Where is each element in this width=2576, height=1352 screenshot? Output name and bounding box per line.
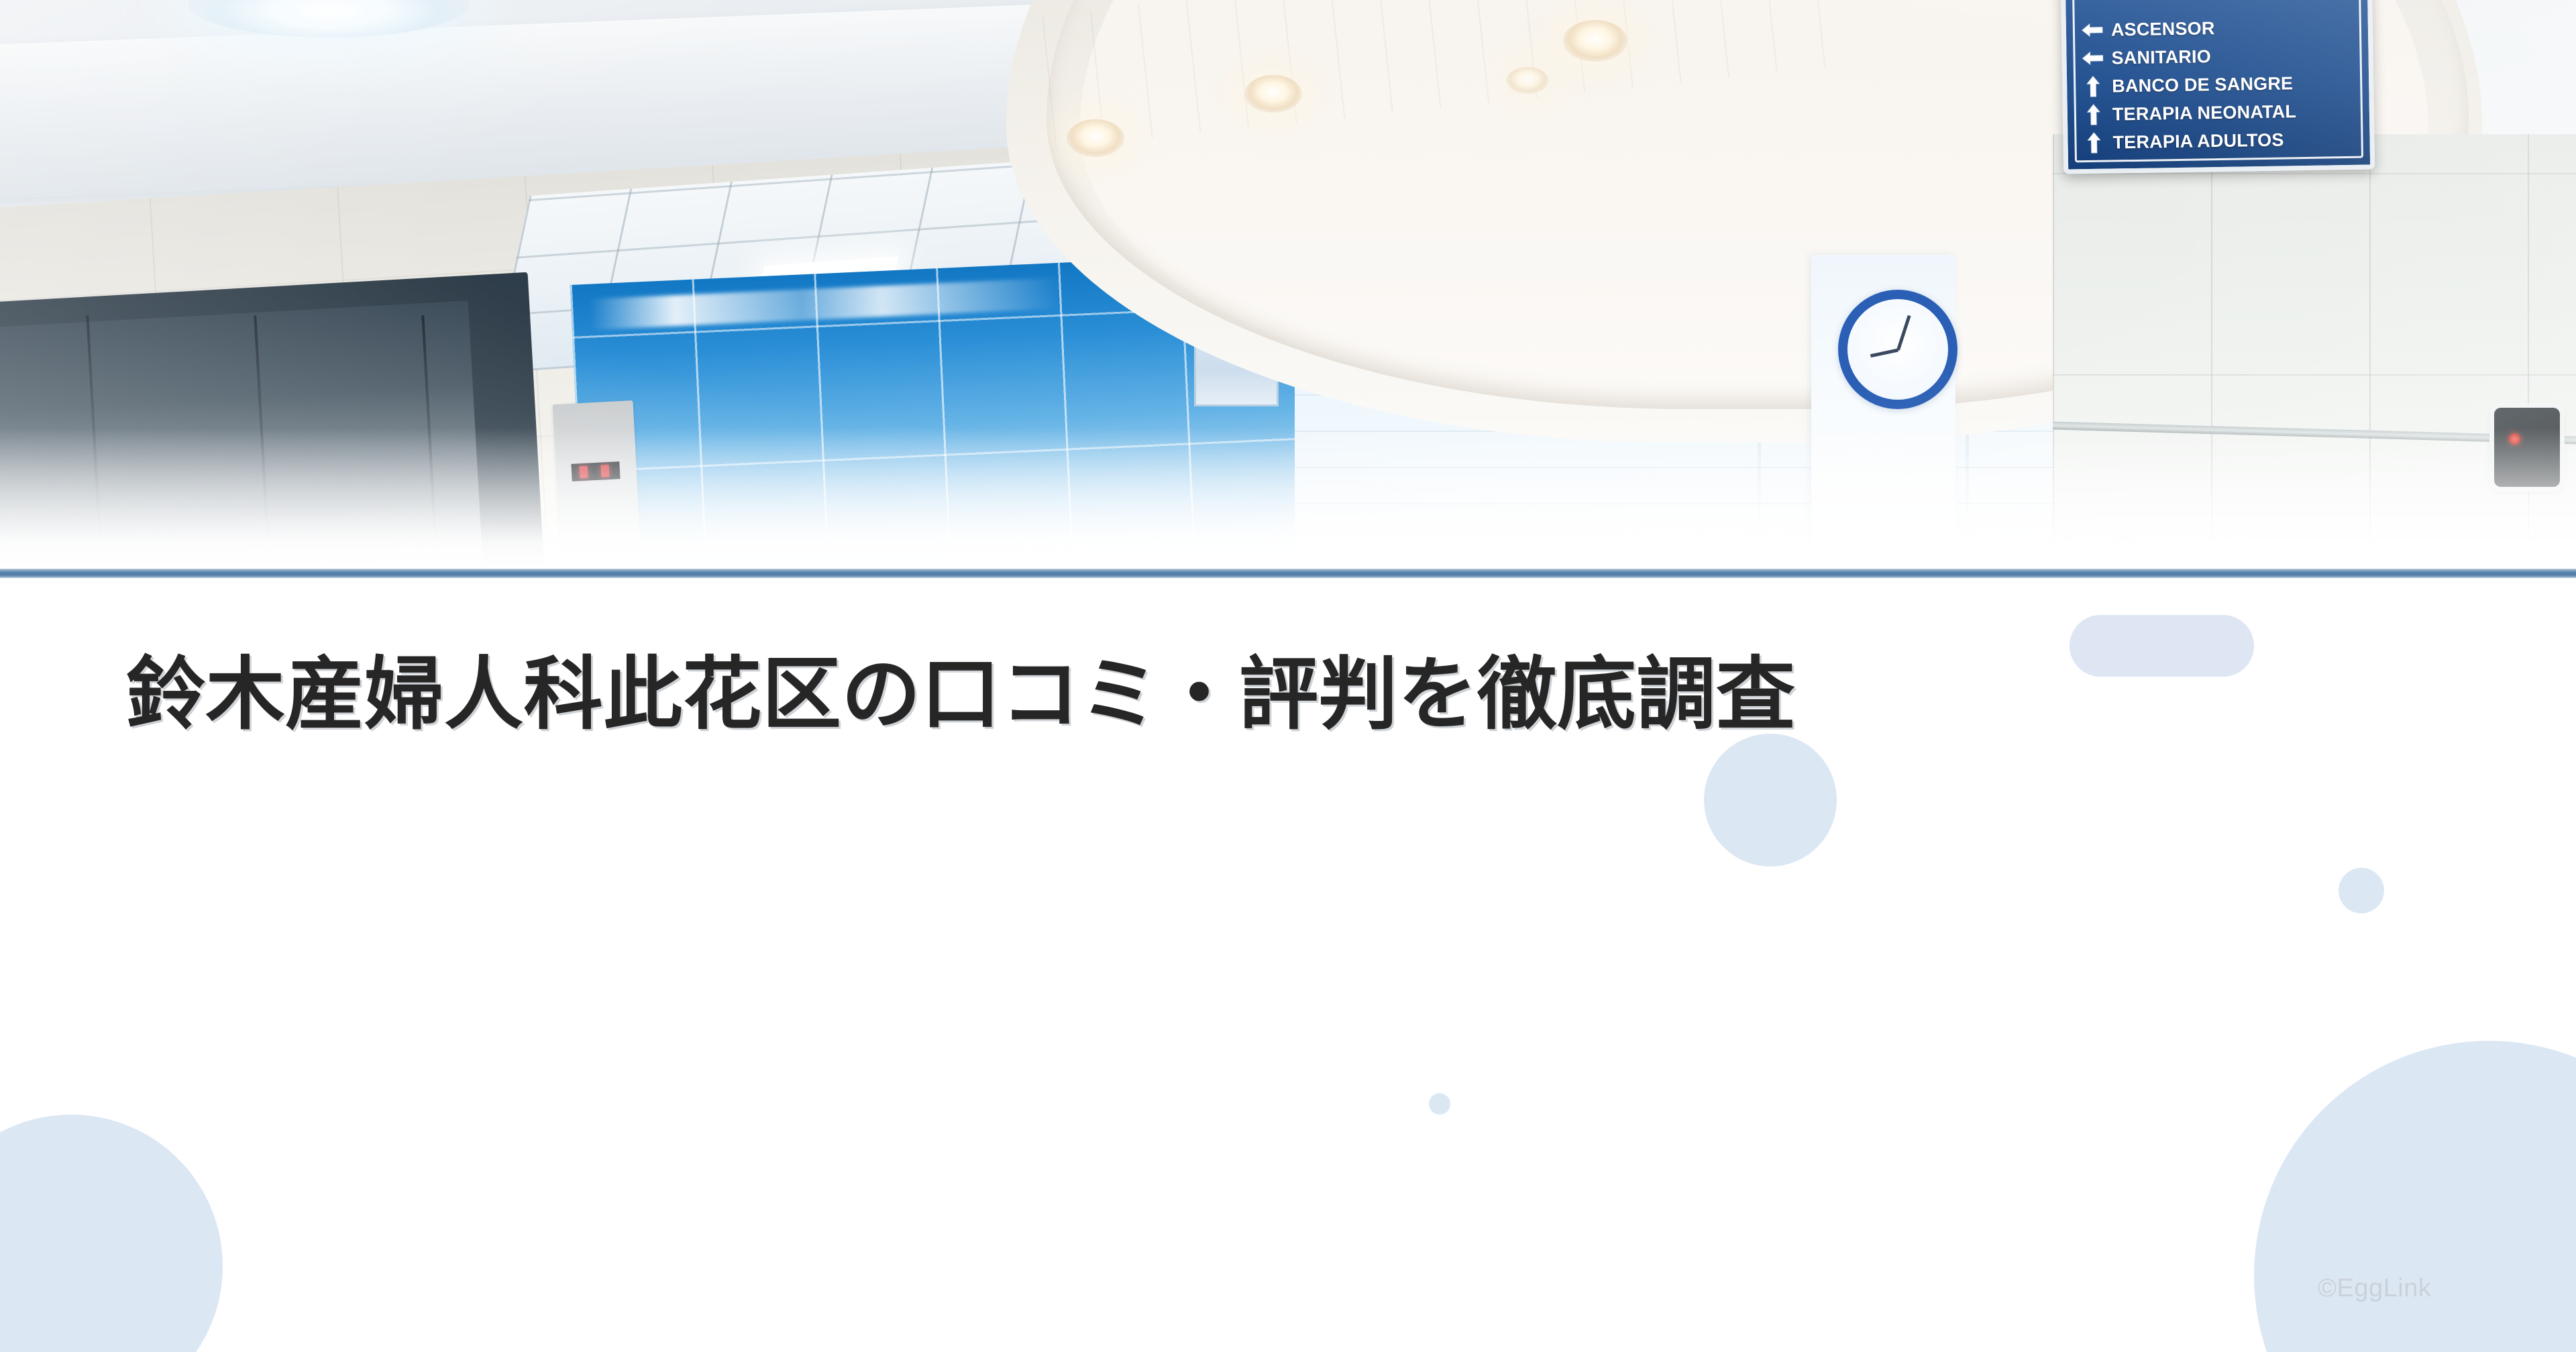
arrow-up-icon	[2082, 131, 2106, 155]
arrow-left-icon	[2080, 22, 2104, 39]
arrow-left-icon	[2080, 50, 2104, 67]
directory-label: TERAPIA ADULTOS	[2112, 129, 2284, 153]
card-reader-led-icon	[2509, 433, 2520, 445]
elevator-floor-indicator	[571, 461, 620, 482]
hospital-lobby-scene: ASCENSOR SANITARIO	[0, 0, 2576, 569]
elevator-doors	[0, 300, 484, 569]
downlight-icon	[1506, 67, 1549, 94]
hospital-directory-sign: ASCENSOR SANITARIO	[2061, 0, 2375, 174]
decorative-circle-bottom-right	[2254, 1041, 2576, 1352]
directory-label: TERAPIA NEONATAL	[2112, 101, 2297, 125]
directory-row-banco-de-sangre: BANCO DE SANGRE	[2081, 69, 2354, 100]
hero-photo: ASCENSOR SANITARIO	[0, 0, 2576, 569]
directory-row-ascensor: ASCENSOR	[2080, 13, 2353, 44]
directory-row-sanitario: SANITARIO	[2080, 41, 2353, 72]
page-title: 鈴木産婦人科此花区の口コミ・評判を徹底調査	[126, 649, 2461, 742]
downlight-icon	[1244, 75, 1302, 113]
directory-label: SANITARIO	[2111, 46, 2211, 68]
arrow-up-icon	[2081, 75, 2106, 99]
wall-clock-icon	[1838, 290, 1957, 409]
decorative-circle	[2339, 868, 2384, 913]
downlight-icon	[1067, 119, 1124, 157]
slide-canvas: ASCENSOR SANITARIO	[0, 0, 2576, 1352]
directory-sign-inner: ASCENSOR SANITARIO	[2072, 0, 2363, 162]
directory-row-terapia-neonatal: TERAPIA NEONATAL	[2082, 97, 2355, 128]
decorative-circle	[1704, 734, 1837, 866]
elevator-call-panel	[553, 400, 642, 569]
decorative-circle-bottom-left	[0, 1115, 223, 1352]
card-reader-device	[2494, 408, 2560, 487]
directory-label: ASCENSOR	[2111, 18, 2215, 40]
section-divider	[0, 569, 2576, 578]
watermark: ©EggLink	[2318, 1274, 2431, 1303]
right-wall-tile-grid	[2053, 134, 2576, 569]
directory-label: BANCO DE SANGRE	[2112, 73, 2293, 97]
downlight-icon	[1563, 20, 1627, 62]
decorative-dot	[1429, 1093, 1450, 1115]
arrow-up-icon	[2082, 103, 2106, 127]
directory-row-terapia-adultos: TERAPIA ADULTOS	[2082, 125, 2355, 156]
